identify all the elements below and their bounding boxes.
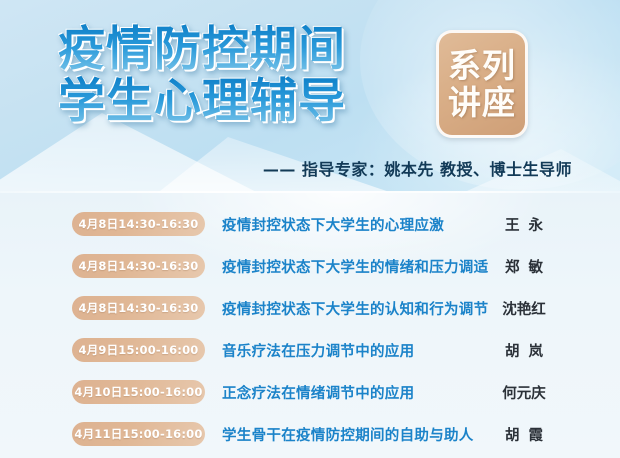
schedule-row[interactable]: 4月8日14:30-16:30 疫情封控状态下大学生的心理应激 王永 <box>0 203 620 245</box>
poster-title: 疫情防控期间 学生心理辅导 <box>58 24 458 128</box>
schedule-time-badge: 4月8日14:30-16:30 <box>72 296 205 320</box>
series-badge-line-2: 讲座 <box>448 84 516 121</box>
schedule-row[interactable]: 4月10日15:00-16:00 正念疗法在情绪调节中的应用 何元庆 <box>0 371 620 413</box>
title-line-1: 疫情防控期间 <box>58 24 458 76</box>
schedule-time-badge: 4月11日15:00-16:00 <box>72 422 205 446</box>
schedule-topic: 疫情封控状态下大学生的认知和行为调节 <box>222 298 488 319</box>
schedule-row[interactable]: 4月11日15:00-16:00 学生骨干在疫情防控期间的自助与助人 胡霞 <box>0 413 620 455</box>
schedule-row[interactable]: 4月9日15:00-16:00 音乐疗法在压力调节中的应用 胡岚 <box>0 329 620 371</box>
schedule-speaker: 胡岚 <box>495 340 553 361</box>
schedule-time-badge: 4月10日15:00-16:00 <box>72 380 205 404</box>
schedule-time-badge: 4月8日14:30-16:30 <box>72 212 205 236</box>
poster-header: 疫情防控期间 学生心理辅导 系列 讲座 —— 指导专家：姚本先 教授、博士生导师 <box>0 0 620 193</box>
schedule-speaker: 郑敏 <box>495 256 553 277</box>
title-line-2: 学生心理辅导 <box>58 76 458 128</box>
schedule-row[interactable]: 4月8日14:30-16:30 疫情封控状态下大学生的情绪和压力调适 郑敏 <box>0 245 620 287</box>
schedule-topic: 学生骨干在疫情防控期间的自助与助人 <box>222 424 474 445</box>
schedule-speaker: 沈艳红 <box>495 298 553 319</box>
schedule-row[interactable]: 4月8日14:30-16:30 疫情封控状态下大学生的认知和行为调节 沈艳红 <box>0 287 620 329</box>
schedule-topic: 疫情封控状态下大学生的心理应激 <box>222 214 444 235</box>
schedule-speaker: 王永 <box>495 214 553 235</box>
series-badge-line-1: 系列 <box>448 47 516 84</box>
schedule-topic: 正念疗法在情绪调节中的应用 <box>222 382 414 403</box>
schedule-speaker: 何元庆 <box>495 382 553 403</box>
series-badge: 系列 讲座 <box>436 30 528 138</box>
schedule-topic: 疫情封控状态下大学生的情绪和压力调适 <box>222 256 488 277</box>
schedule-speaker: 胡霞 <box>495 424 553 445</box>
schedule-time-badge: 4月9日15:00-16:00 <box>72 338 205 362</box>
schedule-topic: 音乐疗法在压力调节中的应用 <box>222 340 414 361</box>
poster-root: 疫情防控期间 学生心理辅导 系列 讲座 —— 指导专家：姚本先 教授、博士生导师… <box>0 0 620 458</box>
advisor-subtitle: —— 指导专家：姚本先 教授、博士生导师 <box>263 156 572 180</box>
schedule-list: 4月8日14:30-16:30 疫情封控状态下大学生的心理应激 王永 4月8日1… <box>0 193 620 458</box>
schedule-time-badge: 4月8日14:30-16:30 <box>72 254 205 278</box>
